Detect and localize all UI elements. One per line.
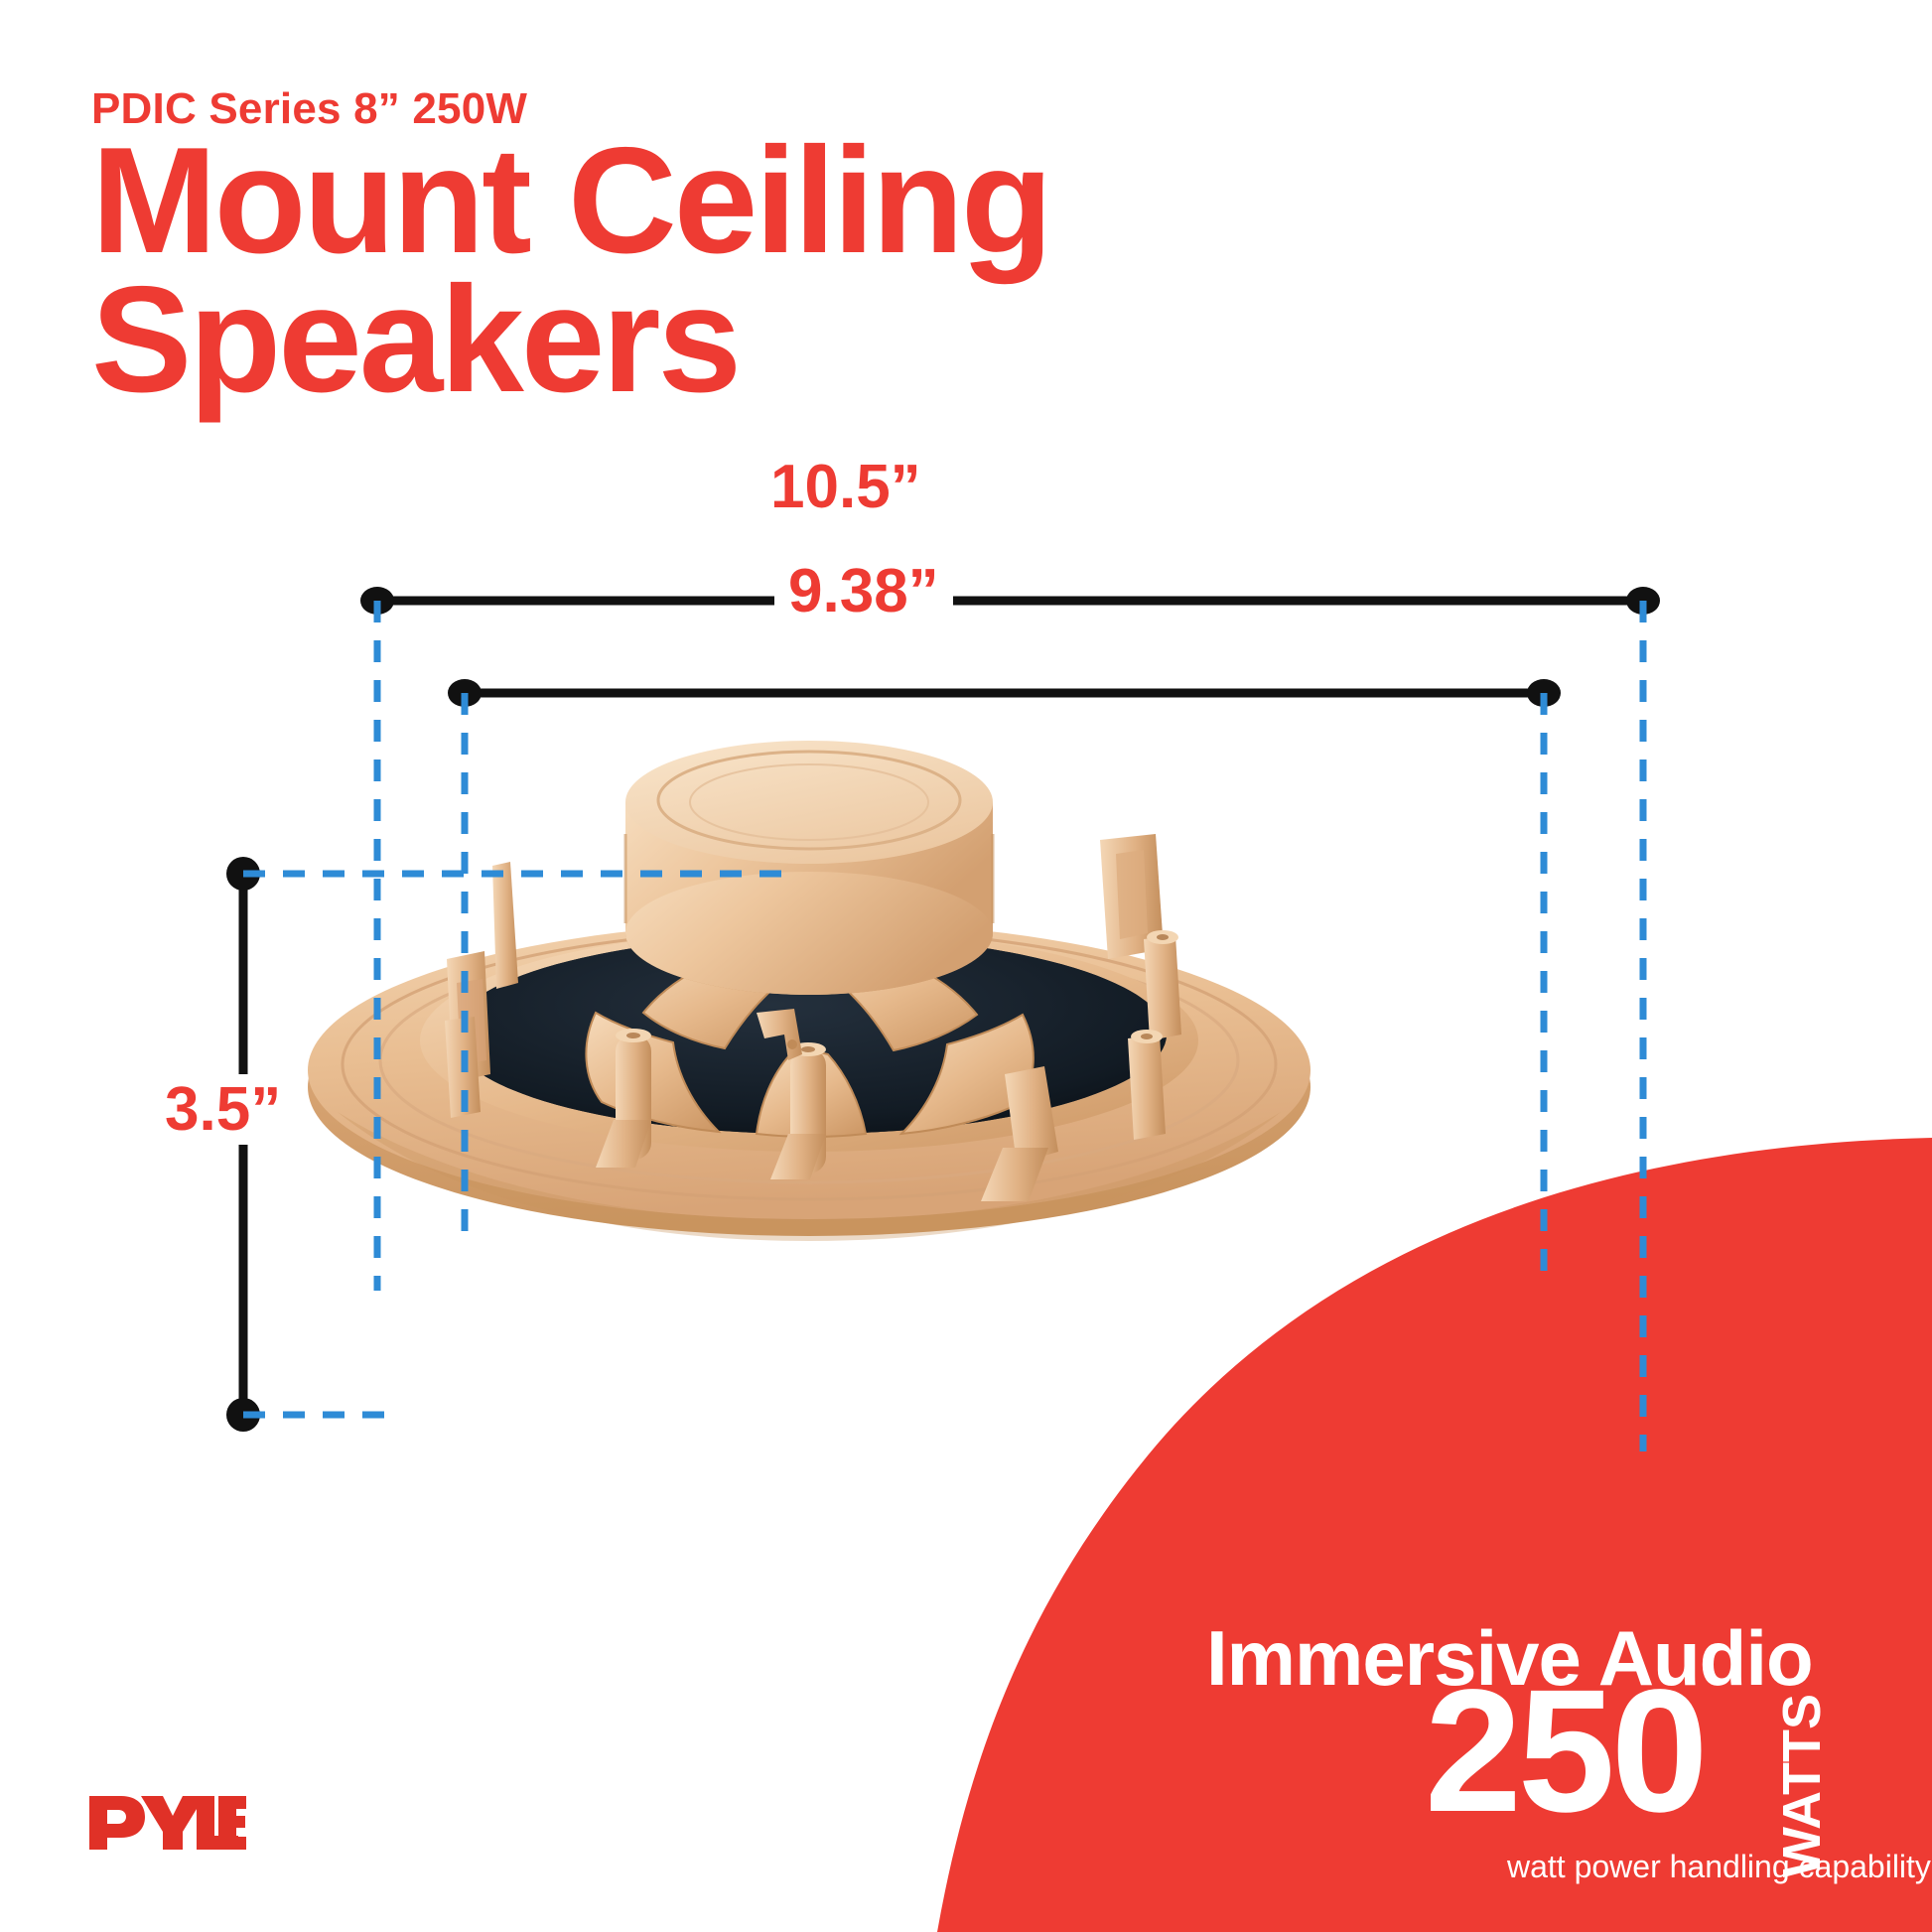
dimension-label-depth: 3.5” bbox=[151, 1074, 295, 1145]
promo-watts-number: 250 bbox=[1425, 1664, 1705, 1839]
dimension-endpoint-right-overall bbox=[1626, 587, 1660, 615]
dimension-endpoint-top-depth bbox=[226, 857, 260, 891]
dimension-endpoint-left-overall bbox=[360, 587, 394, 615]
dimension-endpoint-right-cutout bbox=[1527, 679, 1561, 707]
pyle-logo bbox=[87, 1792, 246, 1859]
dimension-label-width-overall: 10.5” bbox=[757, 452, 935, 522]
promo-watts-caption: watt power handling capability bbox=[1507, 1849, 1931, 1885]
speaker-product-image bbox=[298, 685, 1320, 1241]
dimension-endpoint-bottom-depth bbox=[226, 1398, 260, 1432]
dimension-label-cutout: 9.38” bbox=[774, 556, 953, 626]
page-title: Mount Ceiling Speakers bbox=[91, 132, 1050, 410]
product-infographic: PDIC Series 8” 250W Mount Ceiling Speake… bbox=[0, 0, 1932, 1932]
